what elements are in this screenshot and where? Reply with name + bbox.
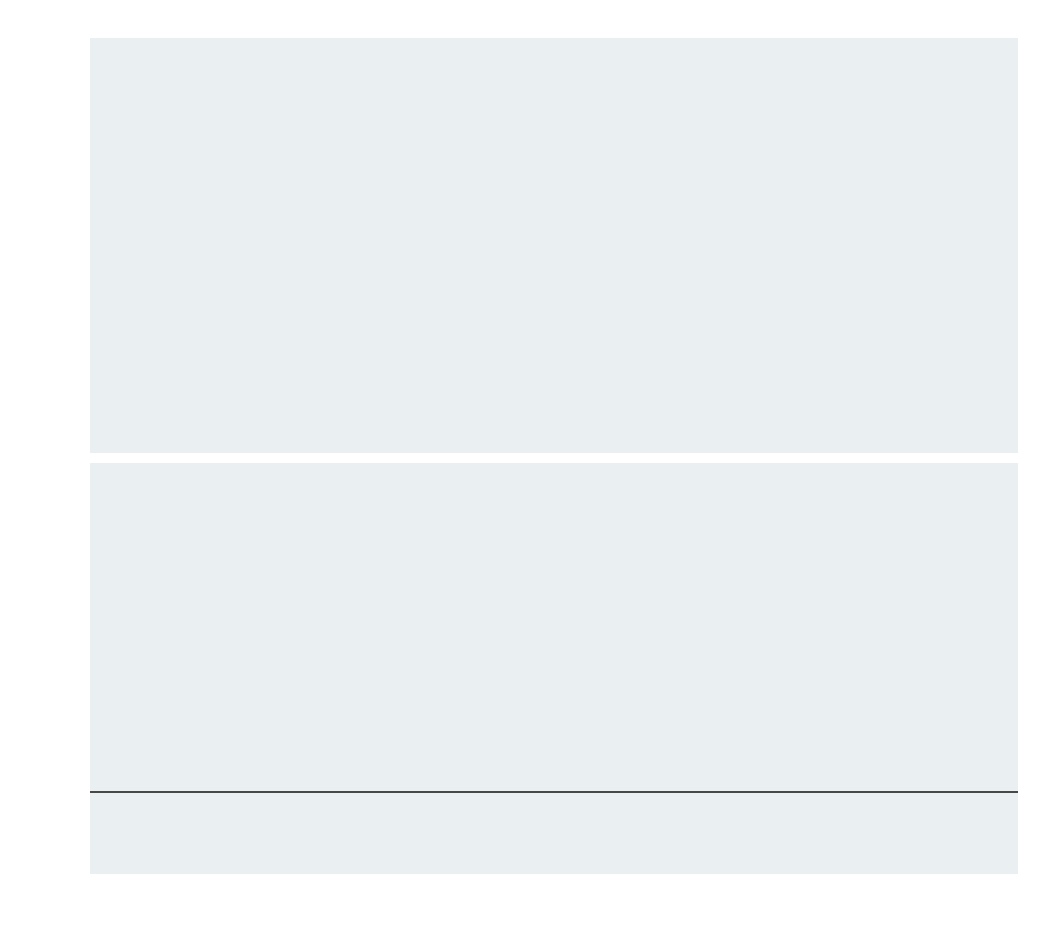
top-plot-background: [90, 38, 1018, 453]
absolute-change-panel: [90, 463, 1018, 874]
figure-canvas: [0, 0, 1057, 942]
bottom-plot-background: [90, 463, 1018, 874]
chart-page: [0, 0, 1057, 942]
economic-capital-ratio-panel: [90, 38, 1018, 453]
